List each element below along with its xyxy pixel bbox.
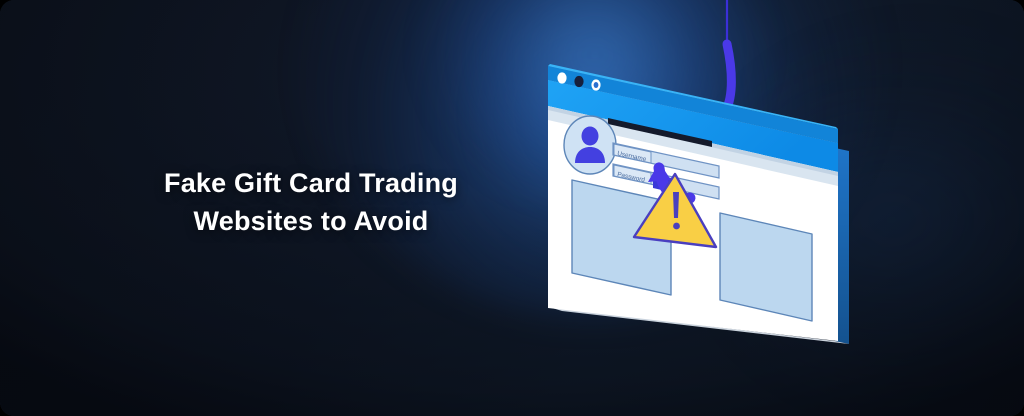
warning-exclamation-dot-icon bbox=[673, 223, 680, 230]
dot-minimize-icon[interactable] bbox=[574, 76, 583, 87]
dot-maximize-inner-icon bbox=[594, 82, 599, 88]
dot-close-icon[interactable] bbox=[557, 72, 566, 83]
warning-exclamation-icon bbox=[673, 192, 679, 218]
phishing-illustration: Username Password bbox=[0, 0, 1024, 416]
fishing-hook-icon bbox=[726, 0, 731, 110]
user-avatar bbox=[564, 116, 616, 174]
phishing-awareness-banner: Fake Gift Card Trading Websites to Avoid bbox=[0, 0, 1024, 416]
avatar-head-icon bbox=[582, 127, 599, 146]
